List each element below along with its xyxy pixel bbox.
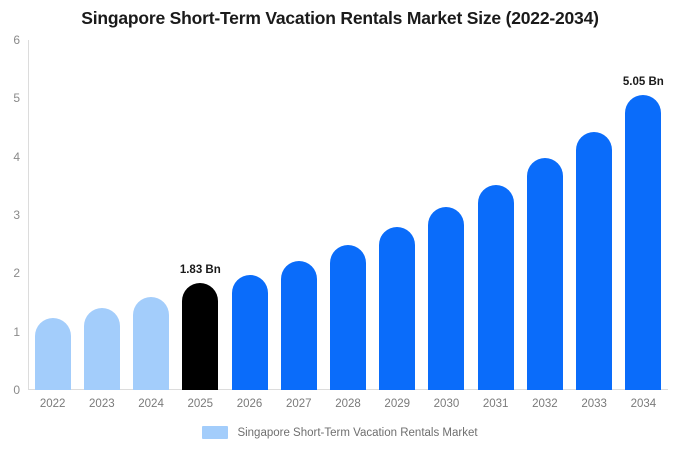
chart-container: Singapore Short-Term Vacation Rentals Ma… [0,0,680,450]
y-axis-tick-label: 1 [13,325,20,339]
bar-rect-2022[interactable] [35,318,71,390]
y-axis-tick-label: 3 [13,208,20,222]
x-axis-tick-label-2023: 2023 [77,398,126,410]
bar-rect-2024[interactable] [133,297,169,390]
bar-value-label-2034: 5.05 Bn [623,76,664,88]
y-axis-tick-label: 5 [13,91,20,105]
y-axis-tick-label: 2 [13,266,20,280]
bar-rect-2034[interactable] [625,95,661,390]
bar-rect-2028[interactable] [330,245,366,390]
bar-rect-2029[interactable] [379,227,415,390]
bar-2033[interactable] [576,40,612,390]
y-axis-tick-label: 0 [13,383,20,397]
bar-2022[interactable] [35,40,71,390]
bar-2026[interactable] [232,40,268,390]
chart-legend: Singapore Short-Term Vacation Rentals Ma… [0,426,680,439]
x-axis-tick-labels: 2022202320242025202620272028202920302031… [28,398,668,416]
chart-title: Singapore Short-Term Vacation Rentals Ma… [0,8,680,29]
bars-layer: 1.83 Bn5.05 Bn [28,40,668,390]
bar-rect-2031[interactable] [478,185,514,390]
x-axis-tick-label-2027: 2027 [274,398,323,410]
x-axis-tick-label-2025: 2025 [176,398,225,410]
legend-label[interactable]: Singapore Short-Term Vacation Rentals Ma… [237,427,477,439]
bar-rect-2030[interactable] [428,207,464,390]
x-axis-tick-label-2032: 2032 [520,398,569,410]
plot-area: 0123456 1.83 Bn5.05 Bn [28,40,668,390]
bar-rect-2025[interactable] [182,283,218,390]
bar-rect-2027[interactable] [281,261,317,391]
x-axis-tick-label-2034: 2034 [619,398,668,410]
y-axis-tick-label: 4 [13,150,20,164]
x-axis-tick-label-2022: 2022 [28,398,77,410]
bar-2023[interactable] [84,40,120,390]
legend-swatch[interactable] [202,426,228,439]
bar-rect-2032[interactable] [527,158,563,390]
x-axis-tick-label-2024: 2024 [126,398,175,410]
bar-2025[interactable]: 1.83 Bn [182,40,218,390]
x-axis-tick-label-2031: 2031 [471,398,520,410]
bar-2028[interactable] [330,40,366,390]
bar-2030[interactable] [428,40,464,390]
bar-2032[interactable] [527,40,563,390]
bar-2027[interactable] [281,40,317,390]
x-axis-tick-label-2026: 2026 [225,398,274,410]
x-axis-tick-label-2033: 2033 [570,398,619,410]
y-axis-tick-label: 6 [13,33,20,47]
x-axis-tick-label-2030: 2030 [422,398,471,410]
x-axis-tick-label-2029: 2029 [373,398,422,410]
bar-rect-2033[interactable] [576,132,612,390]
bar-rect-2026[interactable] [232,275,268,390]
bar-rect-2023[interactable] [84,308,120,390]
bar-2029[interactable] [379,40,415,390]
bar-2034[interactable]: 5.05 Bn [625,40,661,390]
bar-2024[interactable] [133,40,169,390]
x-axis-tick-label-2028: 2028 [323,398,372,410]
bar-value-label-2025: 1.83 Bn [180,264,221,276]
bar-2031[interactable] [478,40,514,390]
